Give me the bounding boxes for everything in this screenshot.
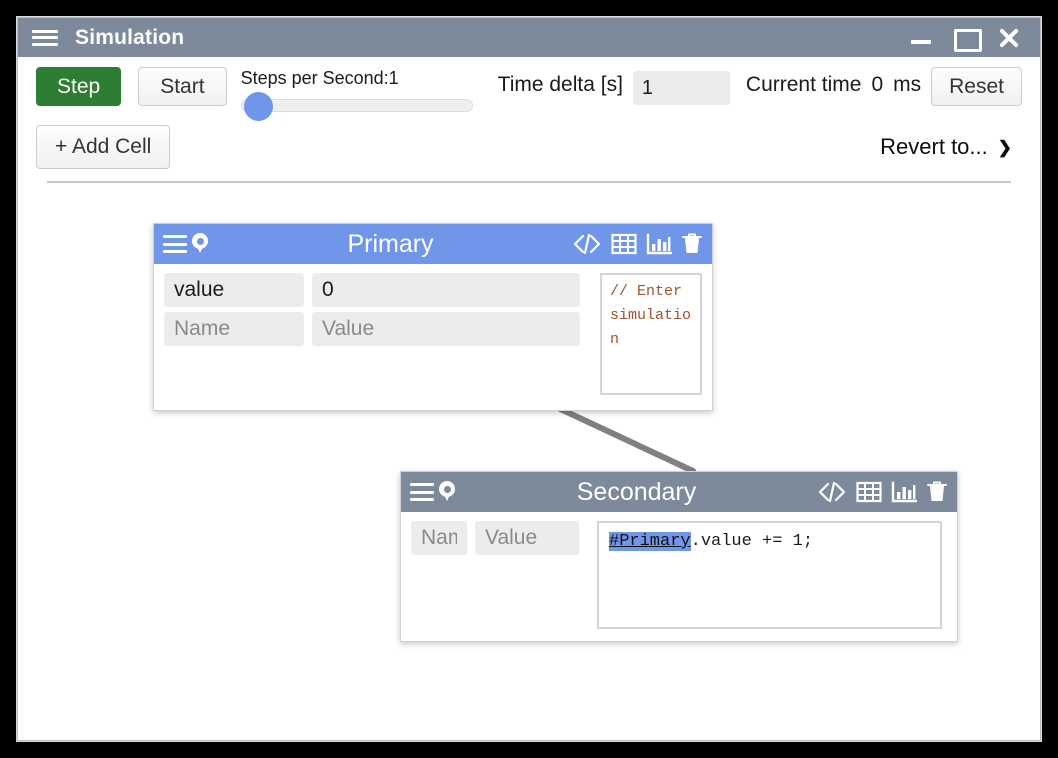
cell-primary-name-input-1[interactable]: [164, 312, 304, 346]
cell-primary-row-0: [164, 273, 580, 307]
revert-to-label: Revert to...: [880, 134, 988, 160]
chevron-down-icon: ❯: [998, 139, 1012, 156]
cell-primary-value-input-0[interactable]: [312, 273, 580, 307]
cell-secondary-code-rest: .value += 1;: [691, 532, 813, 551]
cell-secondary-code-editor[interactable]: #Primary.value += 1;: [597, 521, 942, 629]
code-icon[interactable]: [817, 480, 847, 504]
simulation-window: Simulation Step Start Steps per Second:1…: [17, 17, 1041, 741]
time-delta-input[interactable]: [633, 71, 730, 105]
maximize-icon[interactable]: [952, 25, 978, 51]
cell-primary-fields: [164, 273, 580, 395]
toolbar: Step Start Steps per Second:1 Time delta…: [18, 57, 1040, 183]
start-button[interactable]: Start: [138, 67, 226, 106]
slider-thumb[interactable]: [244, 92, 273, 121]
cell-secondary-icons: [817, 480, 948, 504]
cell-primary-icons: [572, 232, 703, 256]
current-time-value: 0: [871, 67, 883, 97]
window-title: Simulation: [75, 26, 184, 50]
time-delta-label: Time delta [s]: [498, 67, 623, 97]
table-icon[interactable]: [611, 232, 637, 256]
table-icon[interactable]: [856, 480, 882, 504]
close-icon[interactable]: [996, 25, 1022, 51]
cell-primary-value-input-1[interactable]: [312, 312, 580, 346]
current-time-label: Current time: [746, 67, 862, 97]
minimize-icon[interactable]: [908, 25, 934, 51]
toolbar-row-secondary: + Add Cell Revert to... ❯: [36, 119, 1022, 175]
cell-primary-code-editor[interactable]: // Enter simulation: [600, 273, 702, 395]
cell-primary-body: // Enter simulation: [154, 264, 712, 410]
step-button[interactable]: Step: [36, 67, 121, 106]
title-bar: Simulation: [18, 18, 1040, 57]
cell-secondary-fields: [411, 521, 579, 629]
current-time-unit: ms: [893, 67, 921, 97]
cell-secondary-title: Secondary: [456, 480, 817, 505]
code-icon[interactable]: [572, 232, 602, 256]
cell-primary[interactable]: Primary: [153, 223, 713, 411]
revert-to-dropdown[interactable]: Revert to... ❯: [880, 134, 1022, 160]
trash-icon[interactable]: [681, 232, 703, 256]
toolbar-row-primary: Step Start Steps per Second:1 Time delta…: [36, 67, 1022, 119]
cell-secondary-code-reference[interactable]: #Primary: [609, 532, 691, 551]
reset-button[interactable]: Reset: [931, 67, 1022, 106]
steps-per-second-slider[interactable]: [241, 99, 473, 112]
add-cell-button[interactable]: + Add Cell: [36, 125, 170, 168]
cell-primary-title: Primary: [209, 232, 572, 257]
cell-primary-header: Primary: [154, 224, 712, 264]
cell-secondary-body: #Primary.value += 1;: [401, 512, 957, 641]
trash-icon[interactable]: [926, 480, 948, 504]
cell-secondary-row-0: [411, 521, 579, 555]
cell-primary-name-input-0[interactable]: [164, 273, 304, 307]
window-controls: [908, 25, 1034, 51]
pin-icon[interactable]: [438, 481, 456, 503]
menu-icon[interactable]: [410, 483, 434, 501]
menu-icon[interactable]: [163, 235, 187, 253]
cell-secondary[interactable]: Secondary: [400, 471, 958, 642]
steps-per-second-slider-group: Steps per Second:1: [241, 67, 473, 112]
pin-icon[interactable]: [191, 233, 209, 255]
cell-secondary-name-input-0[interactable]: [411, 521, 467, 555]
cell-primary-row-1: [164, 312, 580, 346]
app-menu-icon[interactable]: [32, 28, 58, 48]
cell-primary-code-text: // Enter simulation: [610, 283, 691, 348]
cell-canvas: Primary: [18, 183, 1040, 719]
cell-secondary-header: Secondary: [401, 472, 957, 512]
steps-per-second-label: Steps per Second:1: [241, 68, 473, 88]
cell-secondary-value-input-0[interactable]: [475, 521, 579, 555]
chart-icon[interactable]: [891, 480, 917, 504]
chart-icon[interactable]: [646, 232, 672, 256]
